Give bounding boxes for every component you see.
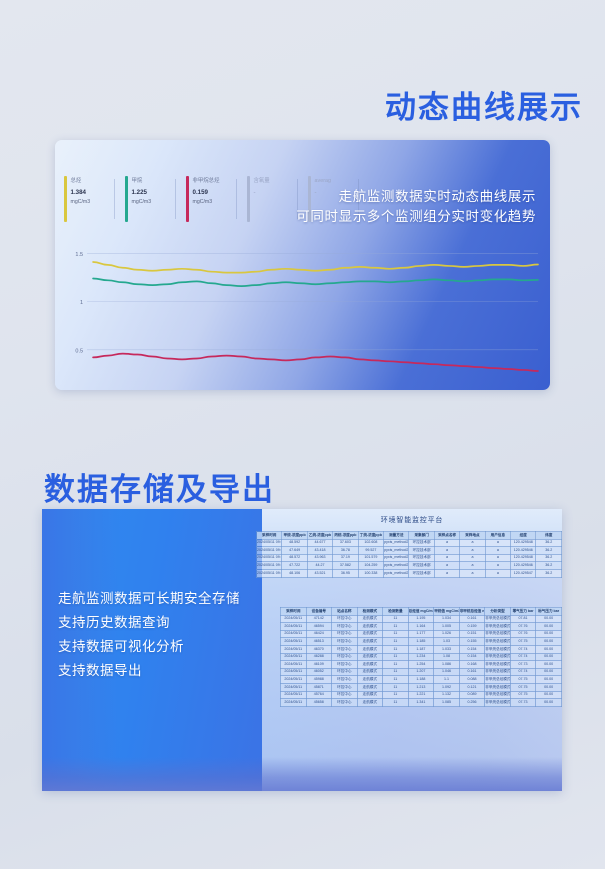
- table-cell: 120.429546: [511, 547, 536, 555]
- table-cell: 2024/05/11: [281, 691, 307, 699]
- table-cell: 11: [383, 691, 409, 699]
- table-column-header[interactable]: 采样时间: [257, 532, 282, 540]
- table-cell: 走航模式: [357, 623, 383, 631]
- table-cell: 2024/05/11: [281, 615, 307, 623]
- table-cell: pyxis_method2: [384, 547, 409, 555]
- table-cell: a: [434, 547, 459, 555]
- table-cell: 00.00: [536, 653, 562, 661]
- table-column-header[interactable]: 检测模式: [357, 608, 383, 616]
- table-column-header[interactable]: 标气压力 bar: [536, 608, 562, 616]
- legend-name: 甲烷: [132, 177, 152, 185]
- table-cell: 07.75: [510, 683, 536, 691]
- table-cell: 环控中心: [332, 623, 358, 631]
- table-cell: 46513: [306, 638, 332, 646]
- table-cell: 36.2: [536, 539, 562, 547]
- table-cell: 00.00: [536, 699, 562, 707]
- table-row[interactable]: 2024/05/1145871环控中心走航模式111.2131.0920.121…: [281, 683, 562, 691]
- table-cell: 47.722: [282, 562, 307, 570]
- table-cell: 99.527: [358, 547, 383, 555]
- table-column-header[interactable]: 测量方法: [384, 532, 409, 540]
- table-cell: 36.95: [333, 569, 358, 577]
- table-cell: 46424: [306, 630, 332, 638]
- table-cell: 走航模式: [357, 699, 383, 707]
- table-cell: 走航模式: [357, 676, 383, 684]
- table-cell: 0.154: [459, 645, 485, 653]
- y-axis-tick-label: 1.5: [75, 252, 83, 258]
- data-table-top[interactable]: 采样时间甲烷-浓度ppb乙烷-浓度ppb丙烷-浓度ppb丁烷-浓度ppb测量方法…: [256, 531, 562, 578]
- legend-item-2[interactable]: 非甲烷总烃0.159mgC/m3: [182, 176, 232, 222]
- table-cell: 37.19: [333, 554, 358, 562]
- page-root: 动态曲线展示 总烃1.384mgC/m3甲烷1.225mgC/m3非甲烷总烃0.…: [0, 0, 605, 869]
- legend-item-0[interactable]: 总烃1.384mgC/m3: [60, 176, 110, 222]
- table-cell: 走航模式: [357, 668, 383, 676]
- table-column-header[interactable]: 经度: [511, 532, 536, 540]
- table-cell: 36.2: [536, 562, 562, 570]
- table-cell: 0.121: [459, 683, 485, 691]
- table-cell: 120.429546: [511, 562, 536, 570]
- table-column-header[interactable]: 采集部门: [409, 532, 434, 540]
- table-cell: a: [434, 554, 459, 562]
- storage-feature-3: 支持数据导出: [58, 659, 240, 683]
- legend-text: 总烃1.384mgC/m3: [71, 176, 91, 222]
- table-cell: a: [434, 562, 459, 570]
- y-axis-tick-label: 1: [80, 300, 83, 306]
- table-cell: 1.026: [434, 630, 460, 638]
- table-cell: 45764: [306, 691, 332, 699]
- table-cell: 48.592: [282, 539, 307, 547]
- table-column-header[interactable]: 甲烷值 mgC/m3: [434, 608, 460, 616]
- table-cell: 43.418: [307, 547, 332, 555]
- table-cell: 46594: [306, 623, 332, 631]
- table-cell: 00.00: [536, 661, 562, 669]
- table-cell: 走航模式: [357, 661, 383, 669]
- table-row[interactable]: 2024/05/1146052环控中心走航模式111.2071.0460.161…: [281, 668, 562, 676]
- table-cell: 43.963: [307, 554, 332, 562]
- legend-unit: mgC/m3: [71, 198, 91, 206]
- table-cell: a: [460, 569, 485, 577]
- table-column-header[interactable]: 分析类型: [485, 608, 511, 616]
- table-cell: 2024/05/11: [281, 645, 307, 653]
- table-cell: 0.155: [459, 638, 485, 646]
- table-cell: 1.034: [434, 615, 460, 623]
- table-cell: a: [485, 554, 510, 562]
- table-cell: 07.74: [510, 668, 536, 676]
- table-cell: 46370: [306, 645, 332, 653]
- table-cell: 11: [383, 699, 409, 707]
- table-cell: 1.341: [408, 699, 434, 707]
- legend-name: averag: [315, 177, 331, 185]
- table-cell: 1.221: [408, 691, 434, 699]
- table-column-header[interactable]: 丙烷-浓度ppb: [333, 532, 358, 540]
- table-cell: 0.088: [459, 676, 485, 684]
- table-column-header[interactable]: 纬度: [536, 532, 562, 540]
- table-cell: 00.00: [536, 668, 562, 676]
- table-cell: 0.159: [459, 623, 485, 631]
- table-column-header[interactable]: 非甲烷总烃值 mgC/m3: [459, 608, 485, 616]
- table-cell: 非甲烷总烃模式: [485, 691, 511, 699]
- table-header-row: 采样时间甲烷-浓度ppb乙烷-浓度ppb丙烷-浓度ppb丁烷-浓度ppb测量方法…: [257, 532, 562, 540]
- table-cell: 2024/05/11: [281, 676, 307, 684]
- table-cell: 1.033: [434, 645, 460, 653]
- table-column-header[interactable]: 甲烷-浓度ppb: [282, 532, 307, 540]
- table-cell: pyxis_method2: [384, 554, 409, 562]
- table-cell: 36.2: [536, 554, 562, 562]
- table-cell: 2024/05/11 09:23: [257, 569, 282, 577]
- line-chart-svg: 1.510.5: [63, 226, 544, 380]
- table-cell: 环控中心: [332, 676, 358, 684]
- table-cell: 00.00: [536, 623, 562, 631]
- table-cell: 环控中心: [332, 691, 358, 699]
- chart-inner: 总烃1.384mgC/m3甲烷1.225mgC/m3非甲烷总烃0.159mgC/…: [55, 140, 550, 390]
- table-header-row: 采样时间设备编号站点名称检测模式检测数量总烃值 mgC/m3甲烷值 mgC/m3…: [281, 608, 562, 616]
- table-row[interactable]: 2024/05/1145658环控中心走航模式111.3411.0850.256…: [281, 699, 562, 707]
- table-cell: a: [460, 547, 485, 555]
- table-cell: 43.521: [307, 569, 332, 577]
- table-cell: 非甲烷总烃模式: [485, 676, 511, 684]
- table-cell: 走航模式: [357, 653, 383, 661]
- table-cell: 非甲烷总烃模式: [485, 638, 511, 646]
- table-row[interactable]: 2024/05/1146370环控中心走航模式111.1871.0330.154…: [281, 645, 562, 653]
- table-cell: 走航模式: [357, 630, 383, 638]
- table-cell: 2024/05/11: [281, 623, 307, 631]
- table-cell: 走航模式: [357, 645, 383, 653]
- table-cell: 36.2: [536, 569, 562, 577]
- legend-color-swatch: [247, 176, 250, 222]
- table-cell: 1.03: [434, 638, 460, 646]
- table-cell: 非甲烷总烃模式: [485, 683, 511, 691]
- table-cell: 120.429548: [511, 554, 536, 562]
- table-column-header[interactable]: 丁烷-浓度ppb: [358, 532, 383, 540]
- table-cell: 120.429548: [511, 539, 536, 547]
- table-column-header[interactable]: 设备编号: [306, 608, 332, 616]
- legend-value: -: [254, 188, 270, 198]
- table-cell: 36.78: [333, 547, 358, 555]
- table-column-header[interactable]: 用户信息: [485, 532, 510, 540]
- table-cell: 非甲烷总烃模式: [485, 668, 511, 676]
- table-row[interactable]: 2024/05/1146109环控中心走航模式111.2541.0860.168…: [281, 661, 562, 669]
- table-cell: 1.08: [434, 653, 460, 661]
- legend-value: 0.159: [193, 188, 220, 198]
- table-cell: 1.188: [408, 676, 434, 684]
- table-cell: 45988: [306, 676, 332, 684]
- table-cell: 2024/05/11: [281, 668, 307, 676]
- table-cell: 07.76: [510, 623, 536, 631]
- table-cell: 1.005: [434, 623, 460, 631]
- storage-feature-list: 走航监测数据可长期安全存储支持历史数据查询支持数据可视化分析支持数据导出: [58, 587, 240, 683]
- table-cell: 环控技术部: [409, 569, 434, 577]
- table-cell: 0.151: [459, 630, 485, 638]
- table-row[interactable]: 2024/05/1146424环控中心走航模式111.1771.0260.151…: [281, 630, 562, 638]
- table-cell: pyxis_method2: [384, 539, 409, 547]
- table-cell: 环控中心: [332, 661, 358, 669]
- table-cell: 48.572: [282, 554, 307, 562]
- series-line-0: [93, 262, 538, 273]
- table-cell: 37.582: [333, 562, 358, 570]
- y-axis-tick-label: 0.5: [75, 348, 83, 354]
- table-cell: 11: [383, 676, 409, 684]
- table-cell: 1.092: [434, 683, 460, 691]
- table-cell: 07.76: [510, 630, 536, 638]
- table-cell: 0.161: [459, 615, 485, 623]
- table-cell: 2024/05/11 09:08: [257, 547, 282, 555]
- table-cell: 1.085: [434, 699, 460, 707]
- table-cell: 0.154: [459, 653, 485, 661]
- legend-unit: mgC/m3: [193, 198, 220, 206]
- table-cell: 非甲烷总烃模式: [485, 661, 511, 669]
- dynamic-curve-card: 总烃1.384mgC/m3甲烷1.225mgC/m3非甲烷总烃0.159mgC/…: [55, 140, 550, 390]
- legend-text: 含氧量-: [254, 176, 270, 222]
- table-column-header[interactable]: 零气压力 bar: [510, 608, 536, 616]
- table-cell: 46288: [306, 653, 332, 661]
- table-row[interactable]: 2024/05/1145988环控中心走航模式111.1881.10.088非甲…: [281, 676, 562, 684]
- table-cell: pyxis_method2: [384, 562, 409, 570]
- table-cell: 0.089: [459, 691, 485, 699]
- table-cell: 1.177: [408, 630, 434, 638]
- table-cell: 环控技术部: [409, 539, 434, 547]
- table-row[interactable]: 2024/05/11 09:1348.57243.96337.19101.579…: [257, 554, 562, 562]
- table-cell: 2024/05/11: [281, 683, 307, 691]
- legend-separator: [236, 179, 237, 219]
- legend-value: 1.225: [132, 188, 152, 198]
- table-column-header[interactable]: 站点名称: [332, 608, 358, 616]
- table-cell: 11: [383, 653, 409, 661]
- table-column-header[interactable]: 采样点名称: [434, 532, 459, 540]
- table-row[interactable]: 2024/05/1146513环控中心走航模式111.1851.030.155非…: [281, 638, 562, 646]
- table-cell: 环控中心: [332, 699, 358, 707]
- legend-item-1[interactable]: 甲烷1.225mgC/m3: [121, 176, 171, 222]
- table-cell: 2024/05/11: [281, 653, 307, 661]
- table-cell: 00.00: [536, 676, 562, 684]
- data-storage-card: 环境智能监控平台 采样时间甲烷-浓度ppb乙烷-浓度ppb丙烷-浓度ppb丁烷-…: [42, 509, 562, 791]
- table-cell: a: [460, 554, 485, 562]
- table-cell: 环控中心: [332, 683, 358, 691]
- table-cell: 45871: [306, 683, 332, 691]
- legend-color-swatch: [186, 176, 189, 222]
- table-cell: 00.00: [536, 645, 562, 653]
- legend-text: 非甲烷总烃0.159mgC/m3: [193, 176, 220, 222]
- table-cell: 非甲烷总烃模式: [485, 699, 511, 707]
- table-row[interactable]: 2024/05/1147142环控中心走航模式111.1951.0340.161…: [281, 615, 562, 623]
- table-cell: 2024/05/11: [281, 699, 307, 707]
- table-cell: 46109: [306, 661, 332, 669]
- table-cell: 11: [383, 661, 409, 669]
- table-column-header[interactable]: 采样地点: [460, 532, 485, 540]
- table-cell: 2024/05/11: [281, 638, 307, 646]
- table-cell: a: [485, 569, 510, 577]
- table-cell: 101.579: [358, 554, 383, 562]
- table-cell: 环控中心: [332, 668, 358, 676]
- table-cell: 00.00: [536, 630, 562, 638]
- table-row[interactable]: 2024/05/11 09:1847.72244.2737.582104.259…: [257, 562, 562, 570]
- curve-desc-line-2: 可同时显示多个监测组分实时变化趋势: [296, 207, 536, 227]
- table-cell: 45658: [306, 699, 332, 707]
- legend-separator: [175, 179, 176, 219]
- table-cell: 环控中心: [332, 653, 358, 661]
- table-cell: a: [460, 539, 485, 547]
- table-cell: 0.168: [459, 661, 485, 669]
- legend-unit: mgC/m3: [132, 198, 152, 206]
- table-cell: 走航模式: [357, 691, 383, 699]
- table-cell: 1.254: [408, 661, 434, 669]
- table-cell: 120.429547: [511, 569, 536, 577]
- table-cell: a: [434, 569, 459, 577]
- table-cell: 46052: [306, 668, 332, 676]
- curve-description: 走航监测数据实时动态曲线展示 可同时显示多个监测组分实时变化趋势: [296, 187, 536, 227]
- table-cell: 1.234: [408, 653, 434, 661]
- table-cell: 1.1: [434, 676, 460, 684]
- table-cell: 2024/05/11 09:18: [257, 562, 282, 570]
- table-cell: 07.75: [510, 676, 536, 684]
- table-cell: 00.00: [536, 615, 562, 623]
- table-cell: 11: [383, 645, 409, 653]
- legend-color-swatch: [64, 176, 67, 222]
- table-cell: 环控中心: [332, 615, 358, 623]
- table-cell: 47.649: [282, 547, 307, 555]
- storage-feature-1: 支持历史数据查询: [58, 611, 240, 635]
- table-cell: 07.75: [510, 691, 536, 699]
- table-cell: 1.164: [408, 623, 434, 631]
- table-cell: 07.81: [510, 615, 536, 623]
- page-title-curve: 动态曲线展示: [385, 82, 583, 127]
- data-table-bottom[interactable]: 采样时间设备编号站点名称检测模式检测数量总烃值 mgC/m3甲烷值 mgC/m3…: [280, 607, 562, 707]
- chart-plot-area: 1.510.5: [63, 226, 544, 380]
- table-cell: 0.161: [459, 668, 485, 676]
- table-row[interactable]: 2024/05/11 09:2348.10643.52136.95100.338…: [257, 569, 562, 577]
- table-cell: 07.75: [510, 638, 536, 646]
- table-column-header[interactable]: 总烃值 mgC/m3: [408, 608, 434, 616]
- table-cell: 环控中心: [332, 645, 358, 653]
- legend-item-3[interactable]: 含氧量-: [243, 176, 293, 222]
- table-cell: 1.195: [408, 615, 434, 623]
- table-column-header[interactable]: 采样时间: [281, 608, 307, 616]
- table-cell: 走航模式: [357, 615, 383, 623]
- table-cell: 1.046: [434, 668, 460, 676]
- table-cell: 环控中心: [332, 638, 358, 646]
- platform-screenshot: 环境智能监控平台 采样时间甲烷-浓度ppb乙烷-浓度ppb丙烷-浓度ppb丁烷-…: [262, 509, 562, 791]
- table-cell: 2024/05/11: [281, 661, 307, 669]
- table-column-header[interactable]: 检测数量: [383, 608, 409, 616]
- table-cell: 2024/05/11 09:13: [257, 554, 282, 562]
- legend-name: 含氧量: [254, 177, 270, 185]
- table-column-header[interactable]: 乙烷-浓度ppb: [307, 532, 332, 540]
- table-cell: 11: [383, 668, 409, 676]
- table-cell: 非甲烷总烃模式: [485, 645, 511, 653]
- table-cell: 非甲烷总烃模式: [485, 653, 511, 661]
- table-row[interactable]: 2024/05/11 09:0348.59244.67737.603102.60…: [257, 539, 562, 547]
- table-cell: 48.106: [282, 569, 307, 577]
- legend-name: 非甲烷总烃: [193, 177, 220, 185]
- table-cell: 环控技术部: [409, 547, 434, 555]
- table-cell: a: [460, 562, 485, 570]
- table-cell: 1.187: [408, 645, 434, 653]
- table-cell: 00.00: [536, 691, 562, 699]
- table-cell: 11: [383, 683, 409, 691]
- legend-name: 总烃: [71, 177, 91, 185]
- legend-color-swatch: [125, 176, 128, 222]
- table-cell: 00.00: [536, 683, 562, 691]
- table-row[interactable]: 2024/05/1145764环控中心走航模式111.2211.1320.089…: [281, 691, 562, 699]
- series-line-1: [93, 278, 538, 286]
- table-cell: 11: [383, 623, 409, 631]
- table-cell: 102.608: [358, 539, 383, 547]
- table-cell: a: [485, 562, 510, 570]
- legend-value: 1.384: [71, 188, 91, 198]
- table-cell: 00.00: [536, 638, 562, 646]
- table-cell: 104.259: [358, 562, 383, 570]
- table-cell: 2024/05/11 09:03: [257, 539, 282, 547]
- platform-title: 环境智能监控平台: [262, 509, 562, 531]
- table-cell: 环控技术部: [409, 562, 434, 570]
- table-cell: 11: [383, 638, 409, 646]
- table-cell: 11: [383, 630, 409, 638]
- table-cell: 非甲烷总烃模式: [485, 630, 511, 638]
- table-cell: 1.207: [408, 668, 434, 676]
- table-cell: 100.338: [358, 569, 383, 577]
- table-cell: a: [434, 539, 459, 547]
- table-cell: 0.256: [459, 699, 485, 707]
- table-cell: 47142: [306, 615, 332, 623]
- bottom-fade-overlay: [42, 757, 562, 791]
- table-cell: 环控技术部: [409, 554, 434, 562]
- table-cell: 1.185: [408, 638, 434, 646]
- table-cell: 07.74: [510, 653, 536, 661]
- table-cell: 1.213: [408, 683, 434, 691]
- table-cell: a: [485, 547, 510, 555]
- table-row[interactable]: 2024/05/1146288环控中心走航模式111.2341.080.154非…: [281, 653, 562, 661]
- table-cell: 1.086: [434, 661, 460, 669]
- table-cell: 07.74: [510, 645, 536, 653]
- legend-separator: [114, 179, 115, 219]
- table-cell: 37.603: [333, 539, 358, 547]
- legend-text: 甲烷1.225mgC/m3: [132, 176, 152, 222]
- table-cell: a: [485, 539, 510, 547]
- table-cell: 07.73: [510, 699, 536, 707]
- storage-feature-2: 支持数据可视化分析: [58, 635, 240, 659]
- table-cell: 36.2: [536, 547, 562, 555]
- table-cell: 07.73: [510, 661, 536, 669]
- table-cell: 非甲烷总烃模式: [485, 623, 511, 631]
- table-cell: pyxis_method2: [384, 569, 409, 577]
- table-cell: 2024/05/11: [281, 630, 307, 638]
- storage-feature-0: 走航监测数据可长期安全存储: [58, 587, 240, 611]
- table-row[interactable]: 2024/05/1146594环控中心走航模式111.1641.0050.159…: [281, 623, 562, 631]
- series-line-2: [93, 354, 538, 371]
- page-title-storage: 数据存储及导出: [44, 464, 275, 509]
- table-cell: 1.132: [434, 691, 460, 699]
- table-cell: 走航模式: [357, 683, 383, 691]
- table-cell: 非甲烷总烃模式: [485, 615, 511, 623]
- curve-desc-line-1: 走航监测数据实时动态曲线展示: [296, 187, 536, 207]
- table-cell: 44.27: [307, 562, 332, 570]
- table-cell: 走航模式: [357, 638, 383, 646]
- table-cell: 44.677: [307, 539, 332, 547]
- table-cell: 11: [383, 615, 409, 623]
- table-cell: 环控中心: [332, 630, 358, 638]
- table-row[interactable]: 2024/05/11 09:0847.64943.41836.7899.527p…: [257, 547, 562, 555]
